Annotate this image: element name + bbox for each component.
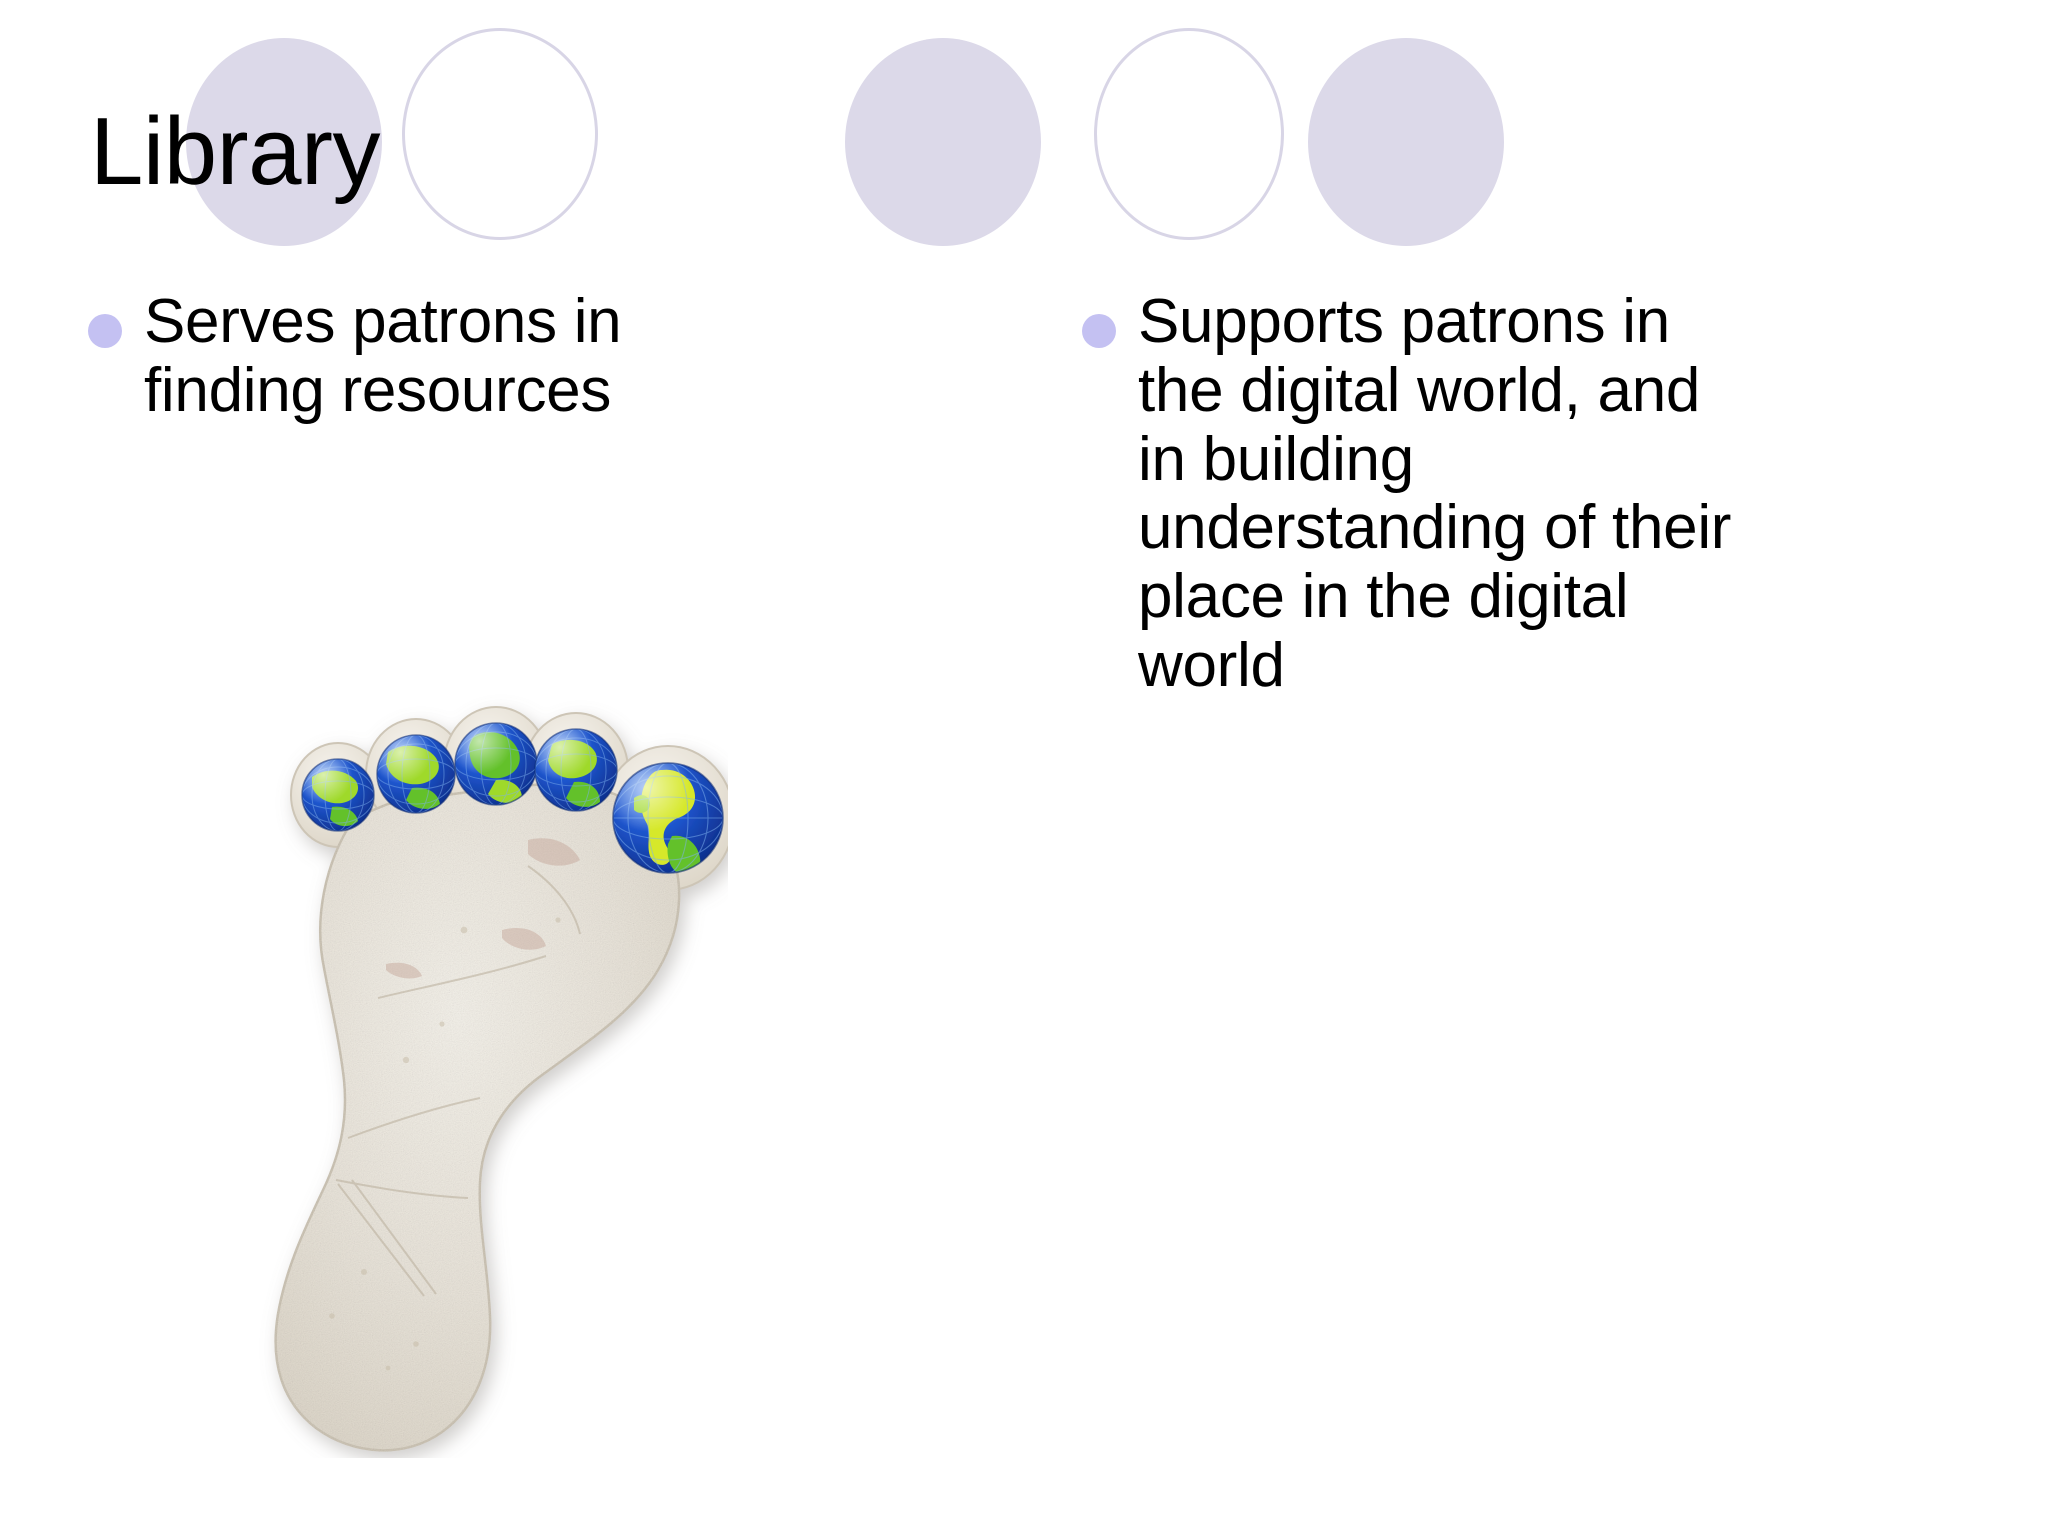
footprint-with-globe-toes-image bbox=[228, 668, 728, 1458]
title-circle-3-icon bbox=[845, 38, 1041, 246]
bullet-list-learning-commons: Supports patrons in the digital world, a… bbox=[1082, 288, 1752, 701]
column-title-library: Library bbox=[90, 104, 380, 200]
slide-canvas: Library Serves patrons in finding resour… bbox=[0, 0, 2048, 1536]
title-circle-2-icon bbox=[402, 28, 598, 240]
bullet-list-library: Serves patrons in finding resources bbox=[88, 288, 728, 426]
bullet-dot-icon bbox=[1082, 314, 1116, 348]
bullet-text-learning-commons-1: Supports patrons in the digital world, a… bbox=[1138, 288, 1752, 701]
bullet-text-library-1: Serves patrons in finding resources bbox=[144, 288, 728, 426]
bullet-dot-icon bbox=[88, 314, 122, 348]
title-circle-5-icon bbox=[1308, 38, 1504, 246]
title-circle-4-icon bbox=[1094, 28, 1284, 240]
